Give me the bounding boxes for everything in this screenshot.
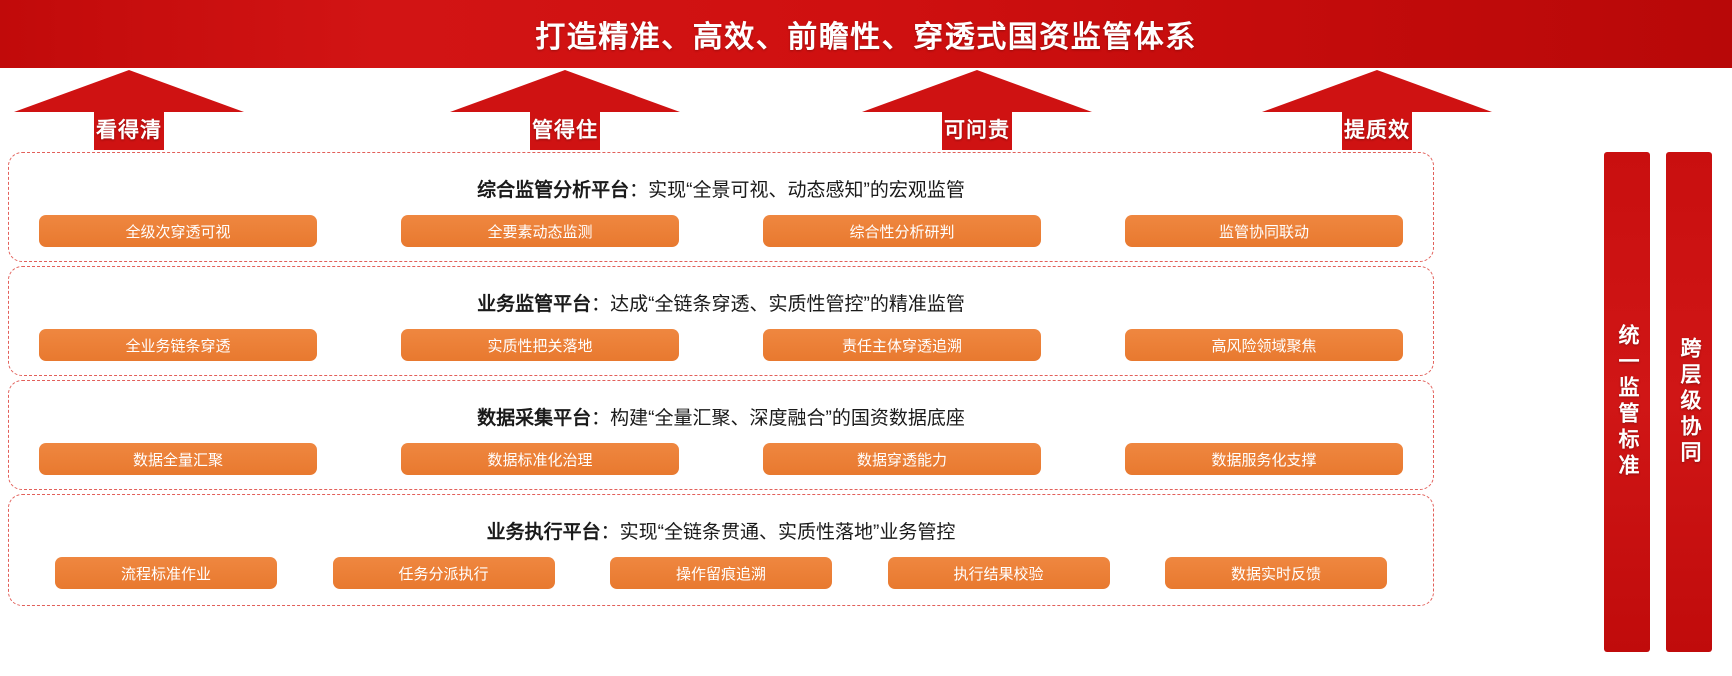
chip-item[interactable]: 实质性把关落地 [401,329,679,361]
chip-row: 全级次穿透可视 全要素动态监测 综合性分析研判 监管协同联动 [9,211,1433,251]
side-bar-label: 统一监管标准 [1612,324,1642,480]
chip-item[interactable]: 高风险领域聚焦 [1125,329,1403,361]
side-bar-unified-standard: 统一监管标准 [1604,152,1650,652]
layer-data-collection: 数据采集平台：构建“全量汇聚、深度融合”的国资数据底座 数据全量汇聚 数据标准化… [8,380,1434,490]
arrow-label: 管得住 [450,108,680,150]
arrow-label: 可问责 [862,108,1092,150]
layer-heading-bold: 业务执行平台 [487,522,601,543]
arrow-kandeqing: 看得清 [14,70,244,150]
layer-heading: 业务执行平台：实现“全链条贯通、实质性落地”业务管控 [9,517,1433,544]
arrow-label: 提质效 [1262,108,1492,150]
chip-item[interactable]: 数据实时反馈 [1165,557,1387,589]
chip-item[interactable]: 数据全量汇聚 [39,443,317,475]
arrow-tizhixiao: 提质效 [1262,70,1492,150]
layer-heading-bold: 数据采集平台 [477,408,591,429]
chip-item[interactable]: 全要素动态监测 [401,215,679,247]
chip-item[interactable]: 任务分派执行 [333,557,555,589]
arrow-label: 看得清 [14,108,244,150]
platform-layers: 综合监管分析平台：实现“全景可视、动态感知”的宏观监管 全级次穿透可视 全要素动… [8,152,1432,652]
chip-item[interactable]: 责任主体穿透追溯 [763,329,1041,361]
chip-row: 全业务链条穿透 实质性把关落地 责任主体穿透追溯 高风险领域聚焦 [9,325,1433,365]
layer-heading-bold: 综合监管分析平台 [477,180,629,201]
side-bar-cross-level-collaboration: 跨层级协同 [1666,152,1712,652]
arrow-guandezhu: 管得住 [450,70,680,150]
chip-item[interactable]: 数据标准化治理 [401,443,679,475]
title-banner: 打造精准、高效、前瞻性、穿透式国资监管体系 [0,0,1732,68]
layer-heading-rest: ：构建“全量汇聚、深度融合”的国资数据底座 [591,408,965,429]
arrow-head-icon [450,70,680,112]
chip-item[interactable]: 操作留痕追溯 [610,557,832,589]
layer-heading: 数据采集平台：构建“全量汇聚、深度融合”的国资数据底座 [9,403,1433,430]
layer-heading-rest: ：实现“全景可视、动态感知”的宏观监管 [629,180,965,201]
arrow-head-icon [862,70,1092,112]
arrow-row: 看得清 管得住 可问责 提质效 [0,68,1732,150]
arrow-kewenze: 可问责 [862,70,1092,150]
arrow-head-icon [1262,70,1492,112]
layer-heading: 综合监管分析平台：实现“全景可视、动态感知”的宏观监管 [9,175,1433,202]
chip-item[interactable]: 数据穿透能力 [763,443,1041,475]
chip-item[interactable]: 执行结果校验 [888,557,1110,589]
chip-item[interactable]: 全级次穿透可视 [39,215,317,247]
chip-item[interactable]: 全业务链条穿透 [39,329,317,361]
layer-heading-rest: ：实现“全链条贯通、实质性落地”业务管控 [601,522,956,543]
side-bar-label: 跨层级协同 [1674,337,1704,467]
layer-business-execution: 业务执行平台：实现“全链条贯通、实质性落地”业务管控 流程标准作业 任务分派执行… [8,494,1434,606]
arrow-head-icon [14,70,244,112]
layer-comprehensive-supervision: 综合监管分析平台：实现“全景可视、动态感知”的宏观监管 全级次穿透可视 全要素动… [8,152,1434,262]
chip-item[interactable]: 流程标准作业 [55,557,277,589]
chip-item[interactable]: 数据服务化支撑 [1125,443,1403,475]
chip-item[interactable]: 综合性分析研判 [763,215,1041,247]
layer-heading-rest: ：达成“全链条穿透、实质性管控”的精准监管 [591,294,965,315]
page-title: 打造精准、高效、前瞻性、穿透式国资监管体系 [535,12,1197,56]
chip-row: 流程标准作业 任务分派执行 操作留痕追溯 执行结果校验 数据实时反馈 [9,553,1433,593]
chip-row: 数据全量汇聚 数据标准化治理 数据穿透能力 数据服务化支撑 [9,439,1433,479]
chip-item[interactable]: 监管协同联动 [1125,215,1403,247]
layer-business-supervision: 业务监管平台：达成“全链条穿透、实质性管控”的精准监管 全业务链条穿透 实质性把… [8,266,1434,376]
layer-heading-bold: 业务监管平台 [477,294,591,315]
layer-heading: 业务监管平台：达成“全链条穿透、实质性管控”的精准监管 [9,289,1433,316]
